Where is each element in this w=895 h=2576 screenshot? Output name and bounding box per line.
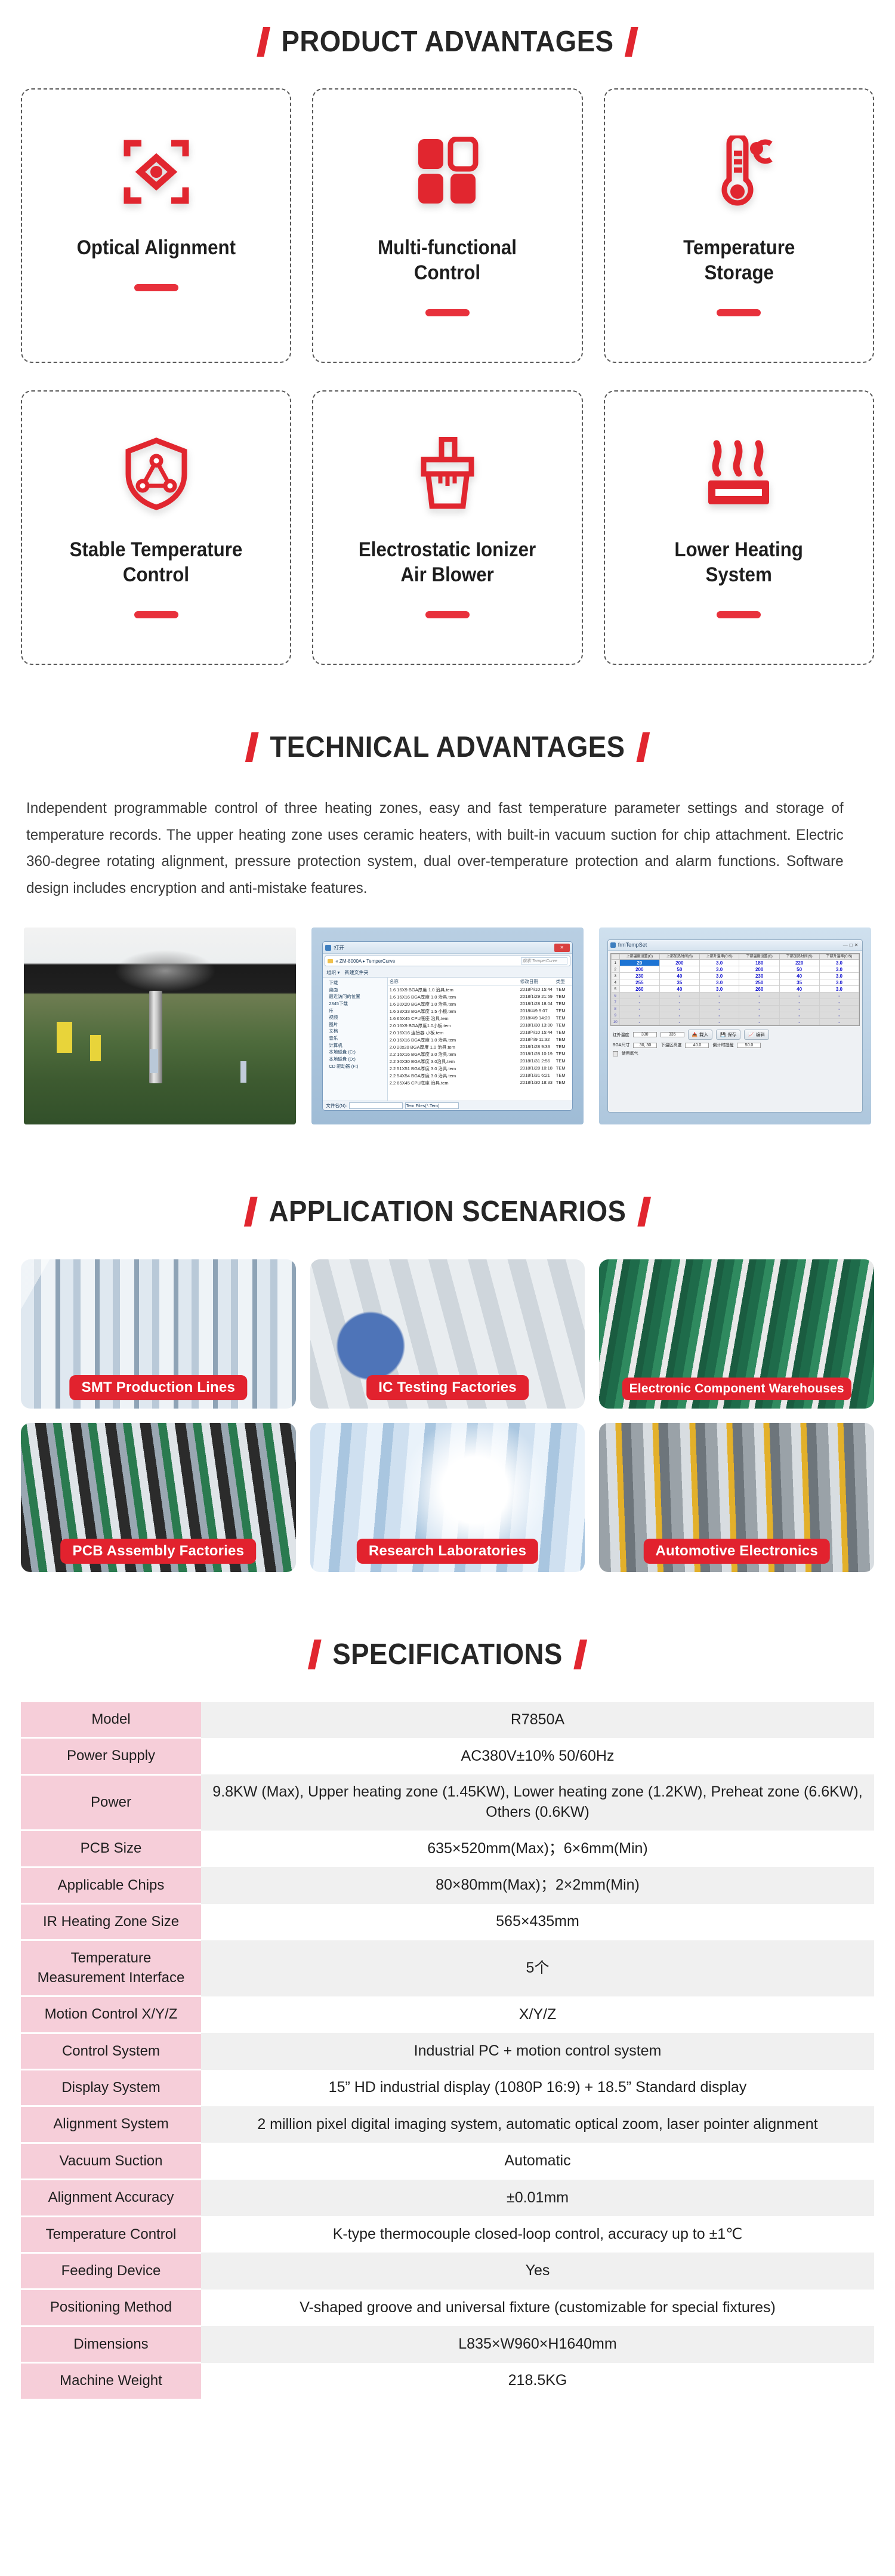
bga-size-label: BGA尺寸: [613, 1042, 630, 1048]
product-advantages-title-text: PRODUCT ADVANTAGES: [282, 25, 614, 58]
table-row: Alignment System2 million pixel digital …: [21, 2106, 874, 2143]
column-header-name[interactable]: 名称: [390, 978, 520, 985]
file-date: 2018/4/10 15:44: [520, 987, 556, 993]
file-type: TEM: [556, 1037, 570, 1043]
file-date: 2018/1/31 2:56: [520, 1058, 556, 1065]
cell[interactable]: -: [659, 1012, 699, 1019]
cell[interactable]: 40: [779, 986, 819, 993]
table-row[interactable]: 8 - - - - - -: [611, 1006, 859, 1012]
countdown-label: 倒计时提醒: [712, 1042, 733, 1048]
cell[interactable]: 230: [739, 973, 779, 979]
spec-key: Display System: [21, 2070, 201, 2106]
row-index: 3: [611, 973, 619, 979]
dialog-footer: 文件名(N): Tem Files(*.Tem): [323, 1101, 572, 1110]
scenario-card-smt-production-lines[interactable]: SMT Production Lines: [21, 1259, 296, 1409]
cell[interactable]: -: [699, 1006, 739, 1012]
table-row: Temperature ControlK-type thermocouple c…: [21, 2216, 874, 2253]
table-header-row: 上部温度设置(C) 上部加热时间(S) 上部升温率(C/S) 下部温度设置(C)…: [611, 954, 859, 959]
file-type: TEM: [556, 1001, 570, 1007]
file-date: 2018/1/28 18:04: [520, 1001, 556, 1007]
file-row[interactable]: 2.2 30X30 BGA厚度 3.0治具.tem2018/1/31 2:56T…: [388, 1058, 572, 1065]
file-type: TEM: [556, 994, 570, 1000]
spec-value: X/Y/Z: [201, 1996, 874, 2033]
scenario-card-ic-testing-factories[interactable]: IC Testing Factories: [310, 1259, 585, 1409]
table-row[interactable]: 10 - - - - - -: [611, 1019, 859, 1025]
bga-size-field[interactable]: 30, 30: [633, 1043, 657, 1048]
nav-item[interactable]: 2345下载: [324, 1000, 386, 1007]
cell[interactable]: -: [659, 999, 699, 1006]
file-name: 2.2 65X45 CPU底座 治具.tem: [390, 1080, 520, 1086]
nav-item[interactable]: 最近访问的位置: [324, 993, 386, 1000]
cell[interactable]: 3.0: [699, 986, 739, 993]
advantage-card-multi-functional-control[interactable]: Multi-functional Control: [312, 88, 582, 363]
organize-menu[interactable]: 组织 ▾: [326, 969, 340, 976]
table-row[interactable]: 9 - - - - - -: [611, 1012, 859, 1019]
row-index: 1: [611, 960, 619, 966]
file-date: 2018/4/9 11:32: [520, 1037, 556, 1043]
cell[interactable]: -: [739, 1012, 779, 1019]
slash-left-icon: [244, 1197, 258, 1227]
file-row[interactable]: 1.6 20X20 BGA厚度 1.0 治具.tem2018/1/28 18:0…: [388, 1000, 572, 1007]
spec-value: V-shaped groove and universal fixture (c…: [201, 2290, 874, 2326]
spec-key: Alignment Accuracy: [21, 2180, 201, 2216]
spec-value: L835×W960×H1640mm: [201, 2326, 874, 2362]
table-row[interactable]: 1 20 200 3.0 180 220 3.0: [611, 960, 859, 966]
search-input[interactable]: 搜索 TemperCurve: [521, 957, 567, 965]
card-underline: [134, 284, 178, 291]
spec-value: 9.8KW (Max), Upper heating zone (1.45KW)…: [201, 1774, 874, 1831]
spec-value: Yes: [201, 2253, 874, 2289]
file-date: 2018/4/9 14:20: [520, 1015, 556, 1022]
cell[interactable]: -: [619, 993, 659, 999]
cell[interactable]: 20: [619, 960, 659, 966]
specifications-title-text: SPECIFICATIONS: [332, 1638, 562, 1671]
row-index: 2: [611, 966, 619, 973]
file-type: TEM: [556, 1065, 570, 1072]
file-date: 2018/4/9 9:07: [520, 1008, 556, 1015]
table-row: Motion Control X/Y/ZX/Y/Z: [21, 1996, 874, 2033]
slash-left-icon: [257, 27, 270, 57]
row-index: 10: [611, 1019, 619, 1025]
cell[interactable]: 3.0: [699, 960, 739, 966]
spec-key: Motion Control X/Y/Z: [21, 1996, 201, 2033]
spec-key: Positioning Method: [21, 2290, 201, 2326]
scenario-caption: Automotive Electronics: [643, 1539, 829, 1564]
technical-advantages-paragraph: Independent programmable control of thre…: [26, 795, 844, 901]
column-header-type[interactable]: 类型: [556, 978, 570, 985]
cell[interactable]: -: [819, 1006, 859, 1012]
nav-item[interactable]: 桌面: [324, 987, 386, 994]
cell[interactable]: -: [779, 1006, 819, 1012]
cell[interactable]: -: [659, 993, 699, 999]
table-row: Alignment Accuracy±0.01mm: [21, 2180, 874, 2216]
col-lower-temp: 下部温度设置(C): [739, 954, 779, 959]
spec-key: Feeding Device: [21, 2253, 201, 2289]
ir-temp-field-2[interactable]: 335: [661, 1032, 684, 1037]
file-date: 2018/1/29 21:59: [520, 994, 556, 1000]
file-name: 1.6 16X9 BGA厚度 1.0 治具.tem: [390, 987, 520, 993]
spec-key: Alignment System: [21, 2106, 201, 2143]
spec-key: Power: [21, 1774, 201, 1831]
thermometer-celsius-icon: [704, 124, 773, 220]
file-name: 2.0 20x20 BGA厚度 1.0 治具.tem: [390, 1044, 520, 1050]
cell[interactable]: 260: [619, 986, 659, 993]
close-icon[interactable]: ✕: [554, 944, 570, 952]
row-index: 5: [611, 986, 619, 993]
ir-temp-field-1[interactable]: 330: [633, 1032, 657, 1037]
technical-image-strip: 打开 ✕ « ZM-8000A ▸ TemperCurve 搜索 TemperC…: [24, 928, 871, 1124]
filetype-select[interactable]: Tem Files(*.Tem): [405, 1102, 459, 1109]
cell[interactable]: -: [699, 1012, 739, 1019]
advantage-card-label: Optical Alignment: [72, 235, 240, 260]
row-index: 9: [611, 1012, 619, 1019]
advantage-card-label: Stable Temperature Control: [65, 537, 246, 587]
cell[interactable]: -: [739, 999, 779, 1006]
floppy-icon: 💾: [720, 1032, 726, 1037]
column-header-date[interactable]: 修改日期: [520, 978, 556, 985]
advantage-card-stable-temperature-control[interactable]: Stable Temperature Control: [21, 390, 291, 665]
spec-key: IR Heating Zone Size: [21, 1904, 201, 1940]
cell[interactable]: -: [779, 1019, 819, 1025]
file-name: 2.0 16X16 连接器 小板.tem: [390, 1030, 520, 1036]
nav-item[interactable]: 计算机: [324, 1042, 386, 1049]
cell[interactable]: 40: [779, 973, 819, 979]
cell[interactable]: 3.0: [819, 966, 859, 973]
scenario-caption: Electronic Component Warehouses: [622, 1378, 851, 1400]
table-row: ModelR7850A: [21, 1702, 874, 1738]
cell[interactable]: -: [819, 1012, 859, 1019]
cell[interactable]: -: [779, 1012, 819, 1019]
nav-item[interactable]: 图片: [324, 1021, 386, 1028]
nav-item[interactable]: 本地磁盘 (D:): [324, 1056, 386, 1063]
lower-zone-height-label: 下温区高度: [661, 1042, 681, 1048]
card-underline: [717, 611, 761, 618]
scenario-card-pcb-assembly-factories[interactable]: PCB Assembly Factories: [21, 1423, 296, 1572]
file-name: 2.0 16X9 BGA厚度1.0小板.tem: [390, 1022, 520, 1029]
cell[interactable]: -: [659, 1006, 699, 1012]
card-underline: [717, 309, 761, 316]
cell[interactable]: 3.0: [819, 986, 859, 993]
file-row[interactable]: 2.2 65X45 CPU底座 治具.tem2018/1/30 18:33TEM: [388, 1079, 572, 1086]
spec-value: 15” HD industrial display (1080P 16:9) +…: [201, 2070, 874, 2106]
spec-value: 80×80mm(Max)；2×2mm(Min): [201, 1867, 874, 1903]
file-row[interactable]: 1.6 65X45 CPU底座 治具.tem2018/4/9 14:20TEM: [388, 1015, 572, 1022]
specifications-table: ModelR7850A Power SupplyAC380V±10% 50/60…: [21, 1702, 874, 2401]
slash-left-icon: [308, 1640, 322, 1669]
file-name: 2.2 16X16 BGA厚度 3.0 治具.tem: [390, 1051, 520, 1058]
scenario-caption: PCB Assembly Factories: [61, 1539, 257, 1564]
cell[interactable]: 50: [659, 966, 699, 973]
window-controls-icon[interactable]: —□✕: [843, 942, 860, 948]
nav-item[interactable]: 视频: [324, 1014, 386, 1021]
filename-label: 文件名(N):: [326, 1102, 347, 1109]
temperature-profile-table[interactable]: 上部温度设置(C) 上部加热时间(S) 上部升温率(C/S) 下部温度设置(C)…: [610, 953, 860, 1026]
table-row: Applicable Chips80×80mm(Max)；2×2mm(Min): [21, 1867, 874, 1903]
cell[interactable]: -: [699, 1019, 739, 1025]
spec-key: Temperature Measurement Interface: [21, 1940, 201, 1996]
file-row[interactable]: 2.0 16X9 BGA厚度1.0小板.tem2018/1/30 13:00TE…: [388, 1022, 572, 1029]
filename-input[interactable]: [349, 1102, 403, 1109]
technical-advantages-heading: TECHNICAL ADVANTAGES: [32, 731, 864, 764]
table-row[interactable]: 3 230 40 3.0 230 40 3.0: [611, 973, 859, 979]
tempset-titlebar: frmTempSet —□✕: [608, 940, 863, 951]
spec-key: Power Supply: [21, 1738, 201, 1774]
col-lower-rate: 下部升温率(C/S): [819, 954, 859, 959]
file-date: 2018/1/28 10:18: [520, 1065, 556, 1072]
cell[interactable]: 40: [659, 986, 699, 993]
breadcrumb: « ZM-8000A ▸ TemperCurve: [335, 959, 395, 964]
file-name: 1.6 33X33 BGA厚度 1.5 小板.tem: [390, 1008, 520, 1015]
scenario-row-1: SMT Production Lines IC Testing Factorie…: [21, 1259, 874, 1409]
advantage-cards-row-2: Stable Temperature Control Electrostatic…: [21, 390, 874, 665]
file-name: 2.2 51X51 BGA厚度 3.0 治具.tem: [390, 1065, 520, 1072]
file-open-dialog-screenshot: 打开 ✕ « ZM-8000A ▸ TemperCurve 搜索 TemperC…: [311, 928, 584, 1124]
cell[interactable]: 255: [619, 979, 659, 986]
cell[interactable]: -: [739, 1006, 779, 1012]
cell[interactable]: 180: [739, 960, 779, 966]
new-folder-button[interactable]: 新建文件夹: [344, 969, 368, 976]
file-type: TEM: [556, 1073, 570, 1079]
load-button[interactable]: 📥载入: [688, 1030, 712, 1040]
table-row: Vacuum SuctionAutomatic: [21, 2143, 874, 2179]
file-row[interactable]: 2.0 16X16 BGA厚度 1.0 治具.tem2018/4/9 11:32…: [388, 1036, 572, 1043]
col-lower-time: 下部加热时间(S): [779, 954, 819, 959]
file-row[interactable]: 2.2 16X16 BGA厚度 3.0 治具.tem2018/1/28 10:1…: [388, 1050, 572, 1058]
table-row: Power SupplyAC380V±10% 50/60Hz: [21, 1738, 874, 1774]
file-row[interactable]: 1.6 16X9 BGA厚度 1.0 治具.tem2018/4/10 15:44…: [388, 986, 572, 993]
nav-item[interactable]: CD 驱动器 (F:): [324, 1063, 386, 1070]
cell[interactable]: -: [739, 1019, 779, 1025]
cell[interactable]: -: [819, 999, 859, 1006]
application-scenarios-title-text: APPLICATION SCENARIOS: [269, 1195, 626, 1228]
cell[interactable]: 50: [779, 966, 819, 973]
cell[interactable]: 200: [619, 966, 659, 973]
file-list[interactable]: 名称 修改日期 类型 1.6 16X9 BGA厚度 1.0 治具.tem2018…: [388, 978, 572, 1101]
slash-right-icon: [625, 27, 638, 57]
spec-value: 218.5KG: [201, 2363, 874, 2399]
file-type: TEM: [556, 1015, 570, 1022]
table-row[interactable]: 4 255 35 3.0 250 35 3.0: [611, 979, 859, 986]
row-index-header: [611, 954, 619, 959]
table-row: Feeding DeviceYes: [21, 2253, 874, 2289]
shield-triangle-icon: [124, 426, 189, 522]
chart-icon: 📈: [748, 1032, 754, 1037]
load-label: 载入: [699, 1031, 708, 1038]
cell[interactable]: -: [819, 993, 859, 999]
file-type: TEM: [556, 1080, 570, 1086]
scenario-row-2: PCB Assembly Factories Research Laborato…: [21, 1423, 874, 1572]
spec-key: Dimensions: [21, 2326, 201, 2362]
nitrogen-label: 使用氮气: [622, 1050, 638, 1056]
spec-value: 5个: [201, 1940, 874, 1996]
dialog-toolbar: 组织 ▾ 新建文件夹: [323, 968, 572, 978]
spec-value: 635×520mm(Max)；6×6mm(Min): [201, 1831, 874, 1867]
file-date: 2018/1/30 13:00: [520, 1022, 556, 1029]
countdown-field[interactable]: 50.0: [737, 1043, 761, 1048]
load-icon: 📥: [692, 1032, 698, 1037]
cell[interactable]: 230: [619, 973, 659, 979]
col-upper-temp: 上部温度设置(C): [619, 954, 659, 959]
spec-key: Control System: [21, 2033, 201, 2069]
table-row[interactable]: 2 200 50 3.0 200 50 3.0: [611, 966, 859, 973]
file-date: 2018/1/28 10:19: [520, 1051, 556, 1058]
spec-value: AC380V±10% 50/60Hz: [201, 1738, 874, 1774]
lower-zone-height-field[interactable]: 40.0: [685, 1043, 709, 1048]
scenario-card-research-laboratories[interactable]: Research Laboratories: [310, 1423, 585, 1572]
table-row: Power9.8KW (Max), Upper heating zone (1.…: [21, 1774, 874, 1831]
cell[interactable]: -: [779, 999, 819, 1006]
cell[interactable]: 220: [779, 960, 819, 966]
cell[interactable]: -: [779, 993, 819, 999]
multi-function-grid-icon: [415, 124, 480, 220]
file-type: TEM: [556, 1051, 570, 1058]
nav-item[interactable]: 库: [324, 1007, 386, 1015]
tempset-controls-row-2: BGA尺寸 30, 30 下温区高度 40.0 倒计时提醒 50.0: [608, 1041, 863, 1049]
table-row: DimensionsL835×W960×H1640mm: [21, 2326, 874, 2362]
table-row: Temperature Measurement Interface5个: [21, 1940, 874, 1996]
spec-key: Model: [21, 1702, 201, 1738]
file-type: TEM: [556, 1008, 570, 1015]
cell[interactable]: -: [619, 1012, 659, 1019]
table-row: Display System15” HD industrial display …: [21, 2070, 874, 2106]
scenario-card-electronic-component-warehouses[interactable]: Electronic Component Warehouses: [599, 1259, 874, 1409]
file-list-header: 名称 修改日期 类型: [388, 978, 572, 986]
cell[interactable]: 35: [659, 979, 699, 986]
scenario-caption: IC Testing Factories: [366, 1375, 529, 1400]
card-underline: [425, 309, 470, 316]
dialog-title: 打开: [334, 944, 344, 951]
advantage-card-optical-alignment[interactable]: Optical Alignment: [21, 88, 291, 363]
file-date: 2018/1/30 18:33: [520, 1080, 556, 1086]
folder-icon: [328, 959, 333, 963]
save-label: 保存: [727, 1031, 736, 1038]
window-icon: [610, 942, 616, 948]
table-row: Positioning MethodV-shaped groove and un…: [21, 2290, 874, 2326]
ionizer-blower-icon: [414, 426, 481, 522]
spec-key: Machine Weight: [21, 2363, 201, 2399]
navigation-pane[interactable]: 下载 桌面 最近访问的位置 2345下载 库 视频 图片 文档 音乐 计算机 本…: [323, 978, 388, 1101]
row-index: 6: [611, 993, 619, 999]
nav-item[interactable]: 音乐: [324, 1035, 386, 1042]
card-underline: [134, 611, 178, 618]
spec-value: 2 million pixel digital imaging system, …: [201, 2106, 874, 2143]
slash-right-icon: [637, 1197, 651, 1227]
cell[interactable]: 40: [659, 973, 699, 979]
file-row[interactable]: 1.6 16X16 BGA厚度 1.0 治具.tem2018/1/29 21:5…: [388, 993, 572, 1000]
tempset-controls-row-1: 红外温度 330 335 📥载入 💾保存 📈编辑: [608, 1028, 863, 1041]
advantage-card-label: Lower Heating System: [670, 537, 807, 587]
file-name: 2.0 16X16 BGA厚度 1.0 治具.tem: [390, 1037, 520, 1043]
technical-advantages-title-text: TECHNICAL ADVANTAGES: [270, 731, 625, 764]
cell[interactable]: -: [819, 1019, 859, 1025]
row-index: 7: [611, 999, 619, 1006]
address-bar[interactable]: « ZM-8000A ▸ TemperCurve 搜索 TemperCurve: [325, 956, 570, 966]
specifications-heading: SPECIFICATIONS: [32, 1638, 864, 1671]
cell[interactable]: -: [699, 993, 739, 999]
nav-item[interactable]: 下载: [324, 979, 386, 987]
cell[interactable]: -: [619, 1019, 659, 1025]
cell[interactable]: 3.0: [819, 960, 859, 966]
cell[interactable]: -: [619, 999, 659, 1006]
cell[interactable]: 3.0: [699, 966, 739, 973]
cell[interactable]: 200: [659, 960, 699, 966]
spec-key: Temperature Control: [21, 2216, 201, 2253]
cell[interactable]: 3.0: [819, 979, 859, 986]
nav-item[interactable]: 文档: [324, 1028, 386, 1035]
table-row: PCB Size635×520mm(Max)；6×6mm(Min): [21, 1831, 874, 1867]
file-row[interactable]: 2.2 54X54 BGA厚度 3.0 治具.tem2018/1/31 6:21…: [388, 1072, 572, 1079]
window-icon: [325, 945, 331, 951]
tempset-controls-row-3: 使用氮气: [608, 1049, 863, 1058]
cell[interactable]: -: [739, 993, 779, 999]
file-name: 2.2 30X30 BGA厚度 3.0治具.tem: [390, 1058, 520, 1065]
edit-button[interactable]: 📈编辑: [744, 1030, 769, 1040]
tempset-title: frmTempSet: [618, 942, 647, 948]
cell[interactable]: -: [659, 1019, 699, 1025]
heat-waves-icon: [702, 426, 775, 522]
nitrogen-checkbox[interactable]: [613, 1051, 618, 1056]
slash-right-icon: [636, 732, 650, 762]
optical-alignment-icon: [121, 124, 192, 220]
file-row[interactable]: 2.0 16X16 连接器 小板.tem2018/4/10 15:44TEM: [388, 1029, 572, 1036]
table-row: Control SystemIndustrial PC + motion con…: [21, 2033, 874, 2069]
file-row[interactable]: 2.2 51X51 BGA厚度 3.0 治具.tem2018/1/28 10:1…: [388, 1065, 572, 1072]
temp-set-dialog-screenshot: frmTempSet —□✕ 上部温度设置(C) 上部加热时间(S) 上部升温率…: [599, 928, 871, 1124]
file-name: 1.6 65X45 CPU底座 治具.tem: [390, 1015, 520, 1022]
row-index: 8: [611, 1006, 619, 1012]
advantage-card-temperature-storage[interactable]: Temperature Storage: [604, 88, 874, 363]
nav-item[interactable]: 本地磁盘 (C:): [324, 1049, 386, 1056]
cell[interactable]: 260: [739, 986, 779, 993]
scenario-caption: Research Laboratories: [357, 1539, 538, 1564]
scenario-caption: SMT Production Lines: [70, 1375, 247, 1400]
cell[interactable]: 3.0: [819, 973, 859, 979]
col-upper-rate: 上部升温率(C/S): [699, 954, 739, 959]
table-row[interactable]: 6 - - - - - -: [611, 993, 859, 999]
file-row[interactable]: 1.6 33X33 BGA厚度 1.5 小板.tem2018/4/9 9:07T…: [388, 1007, 572, 1015]
slash-left-icon: [245, 732, 259, 762]
file-row[interactable]: 2.0 20x20 BGA厚度 1.0 治具.tem2018/1/28 9:33…: [388, 1043, 572, 1050]
dialog-titlebar: 打开 ✕: [323, 942, 572, 954]
slash-right-icon: [574, 1640, 588, 1669]
save-button[interactable]: 💾保存: [716, 1030, 740, 1040]
application-scenarios-heading: APPLICATION SCENARIOS: [32, 1195, 864, 1228]
spec-value: 565×435mm: [201, 1904, 874, 1940]
cell[interactable]: 250: [739, 979, 779, 986]
cell[interactable]: -: [619, 1006, 659, 1012]
cell[interactable]: 3.0: [699, 973, 739, 979]
cell[interactable]: 3.0: [699, 979, 739, 986]
advantage-card-label: Temperature Storage: [678, 235, 799, 285]
table-row[interactable]: 5 260 40 3.0 260 40 3.0: [611, 986, 859, 993]
advantage-card-electrostatic-ionizer-air-blower[interactable]: Electrostatic Ionizer Air Blower: [312, 390, 582, 665]
cell[interactable]: 35: [779, 979, 819, 986]
file-date: 2018/4/10 15:44: [520, 1030, 556, 1036]
spec-value: R7850A: [201, 1702, 874, 1738]
cell[interactable]: -: [699, 999, 739, 1006]
file-type: TEM: [556, 1030, 570, 1036]
spec-key: Applicable Chips: [21, 1867, 201, 1903]
edit-label: 编辑: [756, 1031, 765, 1038]
file-type: TEM: [556, 1044, 570, 1050]
table-row[interactable]: 7 - - - - - -: [611, 999, 859, 1006]
file-name: 1.6 20X20 BGA厚度 1.0 治具.tem: [390, 1001, 520, 1007]
advantage-card-lower-heating-system[interactable]: Lower Heating System: [604, 390, 874, 665]
advantage-card-label: Electrostatic Ionizer Air Blower: [354, 537, 541, 587]
scenario-card-automotive-electronics[interactable]: Automotive Electronics: [599, 1423, 874, 1572]
cell[interactable]: 200: [739, 966, 779, 973]
spec-value: K-type thermocouple closed-loop control,…: [201, 2216, 874, 2253]
